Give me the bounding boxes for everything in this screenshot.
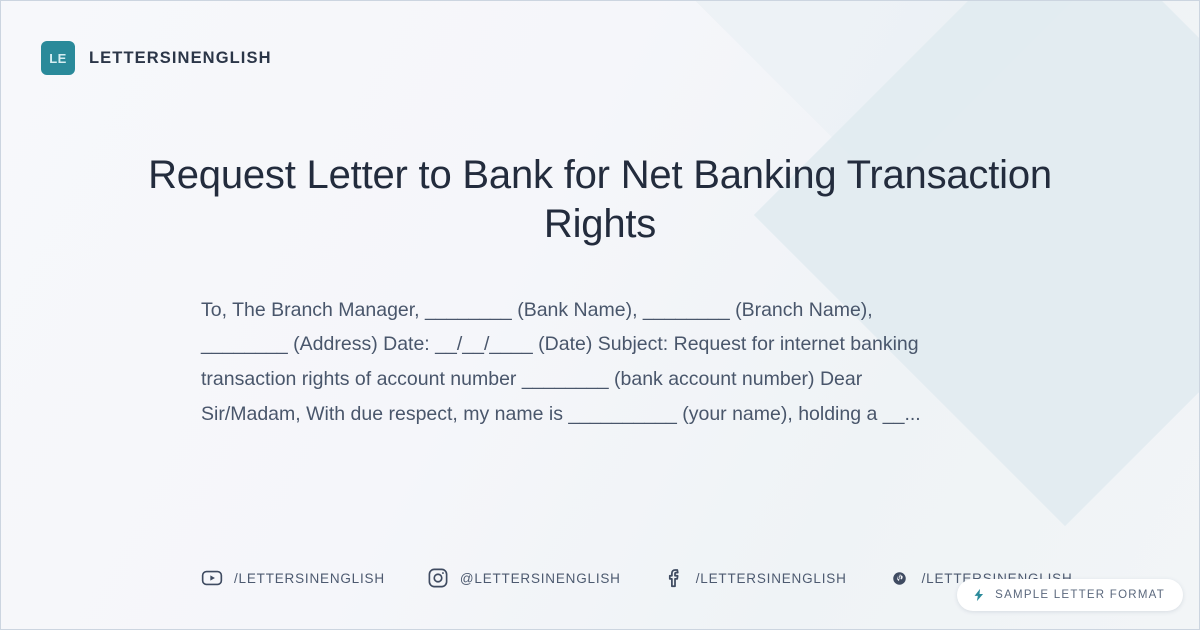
status-badge[interactable]: SAMPLE LETTER FORMAT	[957, 579, 1183, 611]
facebook-icon	[663, 567, 685, 589]
status-badge-label: SAMPLE LETTER FORMAT	[995, 589, 1165, 601]
page-title: Request Letter to Bank for Net Banking T…	[111, 151, 1089, 249]
social-handle: /LETTERSINENGLISH	[234, 571, 385, 586]
social-handle: @LETTERSINENGLISH	[460, 571, 621, 586]
article-excerpt: To, The Branch Manager, ________ (Bank N…	[201, 293, 956, 433]
lightning-bolt-icon	[972, 587, 986, 603]
social-link-facebook[interactable]: /LETTERSINENGLISH	[663, 567, 847, 589]
pinterest-icon	[889, 567, 911, 589]
youtube-icon	[201, 567, 223, 589]
social-link-youtube[interactable]: /LETTERSINENGLISH	[201, 567, 385, 589]
social-handle: /LETTERSINENGLISH	[696, 571, 847, 586]
brand-monogram-icon: LE	[41, 41, 75, 75]
social-share-card: LE LETTERSINENGLISH Request Letter to Ba…	[0, 0, 1200, 630]
instagram-icon	[427, 567, 449, 589]
social-link-instagram[interactable]: @LETTERSINENGLISH	[427, 567, 621, 589]
brand-logo[interactable]: LE LETTERSINENGLISH	[41, 41, 272, 75]
brand-name: LETTERSINENGLISH	[89, 49, 272, 68]
main-content: Request Letter to Bank for Net Banking T…	[1, 151, 1199, 432]
